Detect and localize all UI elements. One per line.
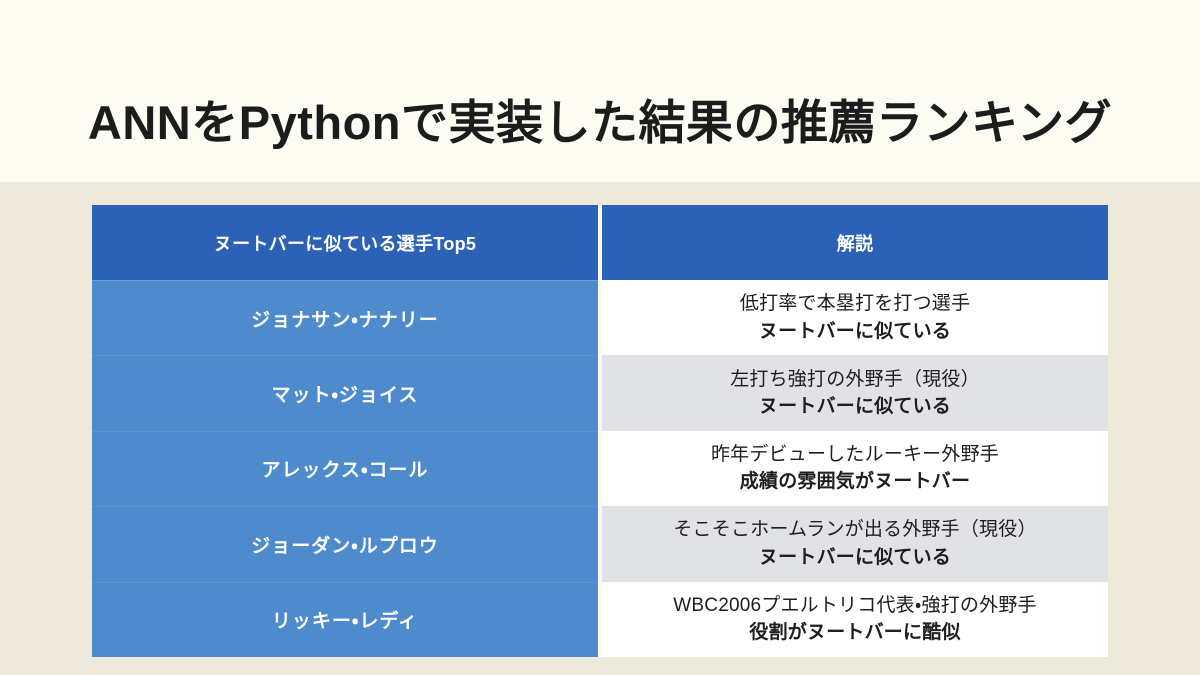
- description-cell: WBC2006プエルトリコ代表・強打の外野手 役割がヌートバーに酷似: [602, 582, 1108, 657]
- player-name-cell: リッキー・レディ: [92, 582, 598, 657]
- description-verdict: 役割がヌートバーに酷似: [749, 619, 960, 647]
- description-cell: 左打ち強打の外野手（現役） ヌートバーに似ている: [602, 355, 1108, 430]
- description-cell: 低打率で本塁打を打つ選手 ヌートバーに似ている: [602, 280, 1108, 355]
- description-cell: そこそこホームランが出る外野手（現役） ヌートバーに似ている: [602, 506, 1108, 581]
- page-title: ANNをPythonで実装した結果の推薦ランキング: [0, 31, 1200, 213]
- player-name-cell: ジョーダン・ルプロウ: [92, 506, 598, 581]
- description-primary: WBC2006プエルトリコ代表・強打の外野手: [673, 592, 1036, 620]
- description-primary: 低打率で本塁打を打つ選手: [740, 290, 970, 318]
- title-band: ANNをPythonで実装した結果の推薦ランキング: [0, 0, 1200, 182]
- table-header-row: ヌートバーに似ている選手Top5 解説: [92, 205, 1108, 280]
- table-row: ジョーダン・ルプロウ そこそこホームランが出る外野手（現役） ヌートバーに似てい…: [92, 506, 1108, 581]
- description-primary: 左打ち強打の外野手（現役）: [730, 366, 980, 394]
- column-header-players: ヌートバーに似ている選手Top5: [92, 205, 598, 280]
- column-header-description: 解説: [602, 205, 1108, 280]
- table-row: ジョナサン・ナナリー 低打率で本塁打を打つ選手 ヌートバーに似ている: [92, 280, 1108, 355]
- player-name-cell: アレックス・コール: [92, 431, 598, 506]
- description-cell: 昨年デビューしたルーキー外野手 成績の雰囲気がヌートバー: [602, 431, 1108, 506]
- table-row: マット・ジョイス 左打ち強打の外野手（現役） ヌートバーに似ている: [92, 355, 1108, 430]
- description-primary: そこそこホームランが出る外野手（現役）: [673, 516, 1036, 544]
- ranking-table: ヌートバーに似ている選手Top5 解説 ジョナサン・ナナリー 低打率で本塁打を打…: [92, 205, 1108, 657]
- description-verdict: ヌートバーに似ている: [759, 393, 951, 421]
- slide-canvas: ANNをPythonで実装した結果の推薦ランキング ヌートバーに似ている選手To…: [0, 0, 1200, 675]
- description-verdict: 成績の雰囲気がヌートバー: [740, 468, 970, 496]
- player-name-cell: ジョナサン・ナナリー: [92, 280, 598, 355]
- description-primary: 昨年デビューしたルーキー外野手: [711, 441, 999, 469]
- description-verdict: ヌートバーに似ている: [759, 544, 951, 572]
- table-row: リッキー・レディ WBC2006プエルトリコ代表・強打の外野手 役割がヌートバー…: [92, 582, 1108, 657]
- player-name-cell: マット・ジョイス: [92, 355, 598, 430]
- description-verdict: ヌートバーに似ている: [759, 318, 951, 346]
- table-row: アレックス・コール 昨年デビューしたルーキー外野手 成績の雰囲気がヌートバー: [92, 431, 1108, 506]
